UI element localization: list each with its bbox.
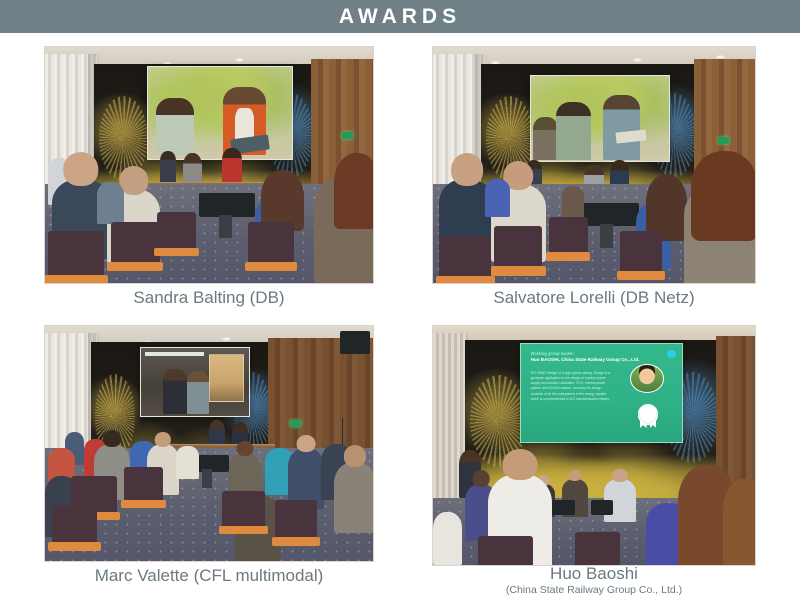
projected-person-a: [163, 369, 187, 414]
projected-image: [141, 348, 249, 416]
exit-sign-icon: [718, 137, 729, 144]
audience-member: [485, 179, 511, 217]
laptop: [591, 500, 614, 514]
audience-head: [503, 449, 538, 480]
projected-person-background: [533, 117, 558, 159]
projected-person-presenter: [556, 102, 592, 160]
wall-monitor: [340, 331, 370, 355]
ceiling-light-icon: [222, 337, 231, 341]
chair: [478, 536, 533, 566]
audience-member: [176, 446, 199, 479]
monitor-stand: [600, 224, 613, 248]
monitor-stand: [202, 469, 212, 488]
page-title: AWARDS: [339, 6, 461, 27]
chair: [575, 532, 620, 566]
ceiling-light-icon: [235, 58, 244, 62]
award-photo-2: [432, 46, 756, 284]
award-caption-4: Huo Baoshi: [432, 564, 756, 584]
award-caption-1: Sandra Balting (DB): [44, 288, 374, 308]
header-bar: AWARDS: [0, 0, 800, 33]
panel-head: [568, 470, 581, 481]
chair: [157, 212, 196, 250]
award-subcaption-4: (China State Railway Group Co., Ltd.): [432, 585, 756, 597]
laptop: [552, 500, 575, 514]
chair: [275, 500, 318, 540]
audience-head: [155, 432, 171, 446]
slide-accent-dot: [667, 350, 675, 358]
chair: [248, 222, 294, 264]
awards-slide: AWARDS: [0, 0, 800, 600]
slide-kicker-text: Working group leader:: [531, 352, 674, 357]
projection-screen: [147, 66, 293, 160]
chair: [124, 467, 163, 502]
projected-slide: Working group leader: Huo BAOSHI, China …: [521, 344, 682, 442]
chair: [439, 236, 491, 278]
audience-head: [473, 470, 490, 487]
projected-light-panel: [209, 354, 243, 402]
audience-head-red-hair: [334, 153, 374, 229]
award-photo-3: [44, 325, 374, 562]
chair: [52, 505, 98, 545]
slide-name-text: Huo BAOSHI, China State Railway Group Co…: [531, 357, 674, 363]
projection-screen: [530, 75, 670, 162]
audience-head-curly-hair: [691, 151, 756, 241]
medal-disc: [638, 404, 658, 424]
projected-person-b: [187, 371, 210, 413]
award-caption-2: Salvatore Lorelli (DB Netz): [420, 288, 768, 308]
chair: [620, 231, 662, 273]
projection-screen: Working group leader: Huo BAOSHI, China …: [520, 343, 683, 443]
chair: [494, 226, 542, 268]
audience-head-long-hair: [723, 479, 756, 566]
audience-head: [296, 435, 315, 452]
stage-monitor: [199, 193, 255, 217]
ceiling-light-icon: [633, 58, 642, 62]
exit-sign-icon: [342, 132, 353, 139]
award-photo-4: Working group leader: Huo BAOSHI, China …: [432, 325, 756, 566]
audience-head: [237, 441, 254, 457]
audience-head: [344, 445, 366, 466]
award-medal-icon: [635, 404, 661, 428]
panel-head: [612, 469, 628, 482]
award-photo-1: [44, 46, 374, 284]
audience-head: [103, 430, 121, 447]
projected-certificate: [616, 129, 647, 143]
projection-screen: [140, 347, 250, 417]
chair: [111, 222, 160, 264]
projected-person-awardee: [603, 95, 640, 160]
projected-image: [148, 67, 292, 159]
audience-member: [97, 182, 123, 224]
audience-member: [334, 462, 374, 533]
stage-monitor: [581, 203, 639, 227]
audience-head: [451, 153, 483, 185]
audience-member: [562, 186, 585, 219]
projected-person-left: [156, 98, 194, 155]
chair: [222, 491, 265, 529]
exit-sign-icon: [290, 420, 301, 427]
projected-image: [531, 76, 669, 161]
chair: [48, 231, 104, 278]
slide-portrait-photo: [630, 364, 664, 392]
slide-body-text: IEC 63452 Design of a high-speed railway…: [531, 371, 611, 402]
monitor-stand: [219, 215, 232, 239]
audience-member: [433, 512, 462, 565]
award-caption-3: Marc Valette (CFL multimodal): [34, 566, 384, 586]
projected-banner-strip: [145, 352, 203, 357]
chair: [549, 217, 588, 255]
stage-person: [160, 151, 176, 184]
audience-head: [63, 152, 98, 186]
